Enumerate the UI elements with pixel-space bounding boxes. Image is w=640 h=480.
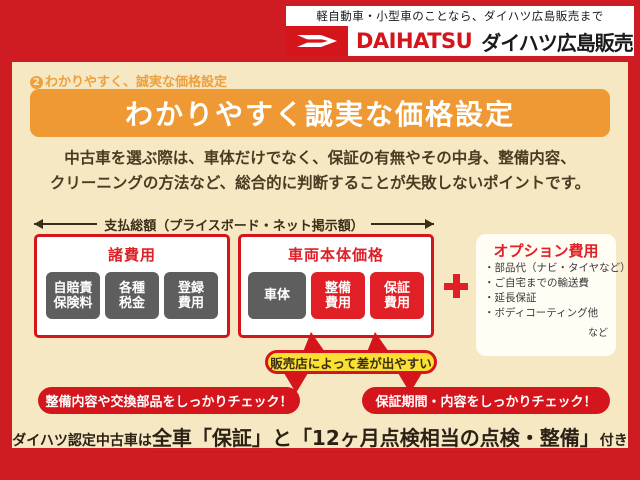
chip-maintenance-fee: 整備 費用	[311, 272, 365, 319]
footer-part-1: ダイハツ認定中古車は	[12, 433, 152, 449]
option-item: ・延長保証	[484, 291, 608, 306]
chip-line-2: 保険料	[53, 296, 92, 311]
arrow-right-icon	[371, 223, 434, 225]
lead-line-2: クリーニングの方法など、総合的に判断することが失敗しないポイントです。	[12, 171, 628, 196]
option-cost-card: オプション費用 ・部品代（ナビ・タイヤなど） ・ご自宅までの輸送費 ・延長保証 …	[476, 234, 616, 356]
check-pill-maintenance: 整備内容や交換部品をしっかりチェック！	[38, 387, 300, 414]
option-item: ・部品代（ナビ・タイヤなど）	[484, 261, 608, 276]
chip-registration: 登録 費用	[164, 272, 218, 319]
total-price-arrow-row: 支払総額（プライスボード・ネット掲示額）	[34, 214, 434, 234]
daihatsu-d-mark-icon	[286, 26, 348, 56]
fees-chip-row: 自賠責 保険料 各種 税金 登録 費用	[37, 272, 227, 319]
chip-line-1: 整備	[325, 281, 351, 296]
chip-line-2: 税金	[119, 296, 145, 311]
lead-line-1: 中古車を選ぶ際は、車体だけでなく、保証の有無やその中身、整備内容、	[12, 146, 628, 171]
footer-part-3: と	[272, 426, 292, 450]
callout-text: 販売店によって差が出やすい	[270, 353, 432, 372]
brand-name-jp: ダイハツ広島販売	[481, 27, 633, 56]
check-pill-warranty: 保証期間・内容をしっかりチェック！	[362, 387, 610, 414]
chip-line-2: 費用	[178, 296, 204, 311]
chip-taxes: 各種 税金	[105, 272, 159, 319]
chip-line-1: 保証	[384, 281, 410, 296]
footer-part-4: 「12ヶ月点検相当の点検・整備」	[292, 426, 600, 453]
check-pill-text: 整備内容や交換部品をしっかりチェック！	[45, 391, 292, 410]
plus-sign-icon	[444, 274, 468, 298]
chip-line-2: 費用	[325, 296, 351, 311]
section-eyebrow: 2わかりやすく、誠実な価格設定	[30, 71, 227, 90]
advertisement-page: 軽自動車・小型車のことなら、ダイハツ広島販売まで DAIHATSU ダイハツ広島…	[0, 0, 640, 480]
chip-line-1: 各種	[119, 281, 145, 296]
dealer-logo-block: 軽自動車・小型車のことなら、ダイハツ広島販売まで DAIHATSU ダイハツ広島…	[286, 6, 634, 56]
section-title: わかりやすく誠実な価格設定	[125, 93, 515, 133]
chip-line-1: 自賠責	[53, 281, 92, 296]
chip-warranty-fee: 保証 費用	[370, 272, 424, 319]
header-tagline: 軽自動車・小型車のことなら、ダイハツ広島販売まで	[286, 6, 634, 26]
header-band: 軽自動車・小型車のことなら、ダイハツ広島販売まで DAIHATSU ダイハツ広島…	[0, 0, 640, 62]
vehicle-chip-row: 車体 整備 費用 保証 費用	[241, 272, 431, 319]
total-price-label: 支払総額（プライスボード・ネット掲示額）	[97, 215, 371, 234]
callout-box: 販売店によって差が出やすい	[265, 350, 437, 374]
chip-line-2: 費用	[384, 296, 410, 311]
brand-row: DAIHATSU ダイハツ広島販売	[286, 26, 634, 56]
content-panel: 2わかりやすく、誠実な価格設定 わかりやすく誠実な価格設定 中古車を選ぶ際は、車…	[12, 62, 628, 448]
footer-part-5: 付き	[600, 433, 628, 449]
fees-box: 諸費用 自賠責 保険料 各種 税金 登録 費用	[34, 234, 230, 338]
connector-warranty-icon	[367, 332, 389, 352]
option-card-footnote: など	[484, 324, 608, 339]
arrow-left-icon	[34, 223, 97, 225]
connector-maintenance-icon	[303, 332, 325, 352]
lead-paragraph: 中古車を選ぶ際は、車体だけでなく、保証の有無やその中身、整備内容、 クリーニング…	[12, 146, 628, 196]
chip-jibaiseki: 自賠責 保険料	[46, 272, 100, 319]
footer-strapline: ダイハツ認定中古車は全車「保証」と「12ヶ月点検相当の点検・整備」付き	[12, 422, 628, 451]
section-eyebrow-text: わかりやすく、誠実な価格設定	[45, 75, 227, 90]
vehicle-price-box: 車両本体価格 車体 整備 費用 保証 費用	[238, 234, 434, 338]
section-title-banner: わかりやすく誠実な価格設定	[30, 89, 610, 137]
chip-body: 車体	[248, 272, 306, 319]
price-breakdown-boxes: 諸費用 自賠責 保険料 各種 税金 登録 費用	[34, 234, 434, 338]
option-item: ・ご自宅までの輸送費	[484, 276, 608, 291]
vehicle-price-box-title: 車両本体価格	[241, 244, 431, 265]
fees-box-title: 諸費用	[37, 244, 227, 265]
section-number-badge: 2	[30, 76, 43, 89]
option-item: ・ボディコーティング他	[484, 306, 608, 321]
option-card-title: オプション費用	[484, 240, 608, 261]
footer-part-2: 全車「保証」	[152, 426, 272, 453]
chip-line-1: 車体	[264, 288, 290, 303]
check-pill-text: 保証期間・内容をしっかりチェック！	[375, 391, 596, 410]
brand-name-en: DAIHATSU	[356, 29, 472, 53]
chip-line-1: 登録	[178, 281, 204, 296]
